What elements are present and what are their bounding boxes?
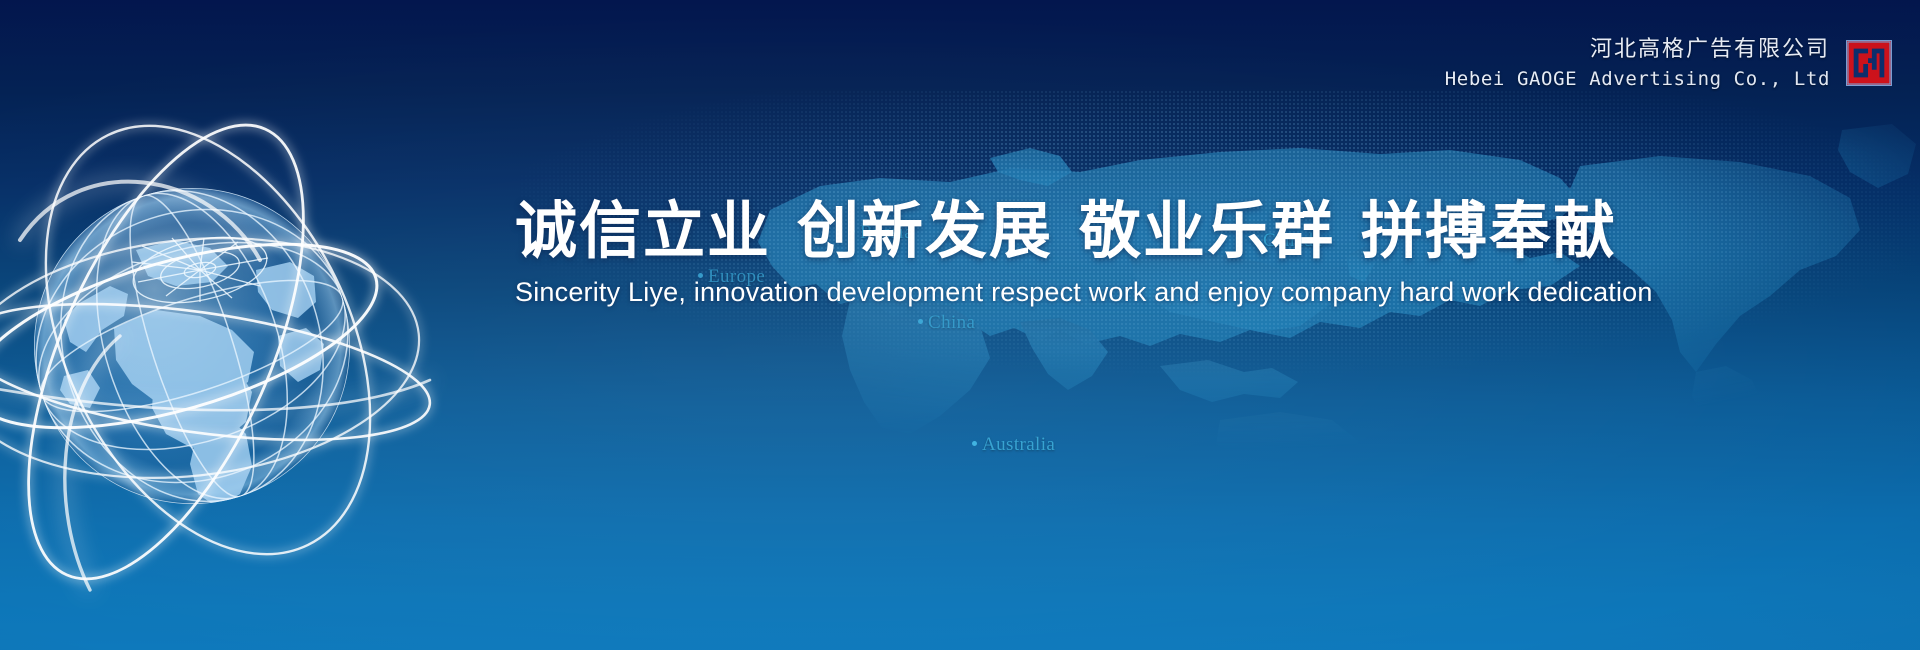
company-identity: 河北高格广告有限公司 Hebei GAOGE Advertising Co., … (1445, 34, 1892, 92)
map-label-text-china: China (928, 312, 975, 333)
company-name-en: Hebei GAOGE Advertising Co., Ltd (1445, 66, 1830, 93)
slogan-block: 诚信立业创新发展敬业乐群拼搏奉献 Sincerity Liye, innovat… (515, 196, 1895, 308)
company-banner: Russia Canada Europe China Australia (0, 0, 1920, 650)
map-label-china: China (918, 312, 975, 334)
slogan-cn-part-4: 拼搏奉献 (1361, 194, 1617, 267)
map-label-text-australia: Australia (982, 434, 1055, 455)
gaoge-logo-icon (1846, 40, 1892, 86)
map-pin-dot-china (918, 319, 923, 324)
slogan-cn-part-2: 创新发展 (797, 194, 1053, 267)
orbiting-globe-graphic (0, 90, 430, 610)
slogan-cn-part-3: 敬业乐群 (1079, 194, 1335, 267)
map-pin-dot-australia (972, 441, 977, 446)
slogan-cn-part-1: 诚信立业 (515, 194, 771, 267)
slogan-chinese: 诚信立业创新发展敬业乐群拼搏奉献 (515, 196, 1895, 265)
company-name-cn: 河北高格广告有限公司 (1445, 34, 1830, 64)
company-name-block: 河北高格广告有限公司 Hebei GAOGE Advertising Co., … (1445, 34, 1830, 92)
slogan-english: Sincerity Liye, innovation development r… (515, 277, 1895, 308)
map-label-australia: Australia (972, 434, 1055, 456)
